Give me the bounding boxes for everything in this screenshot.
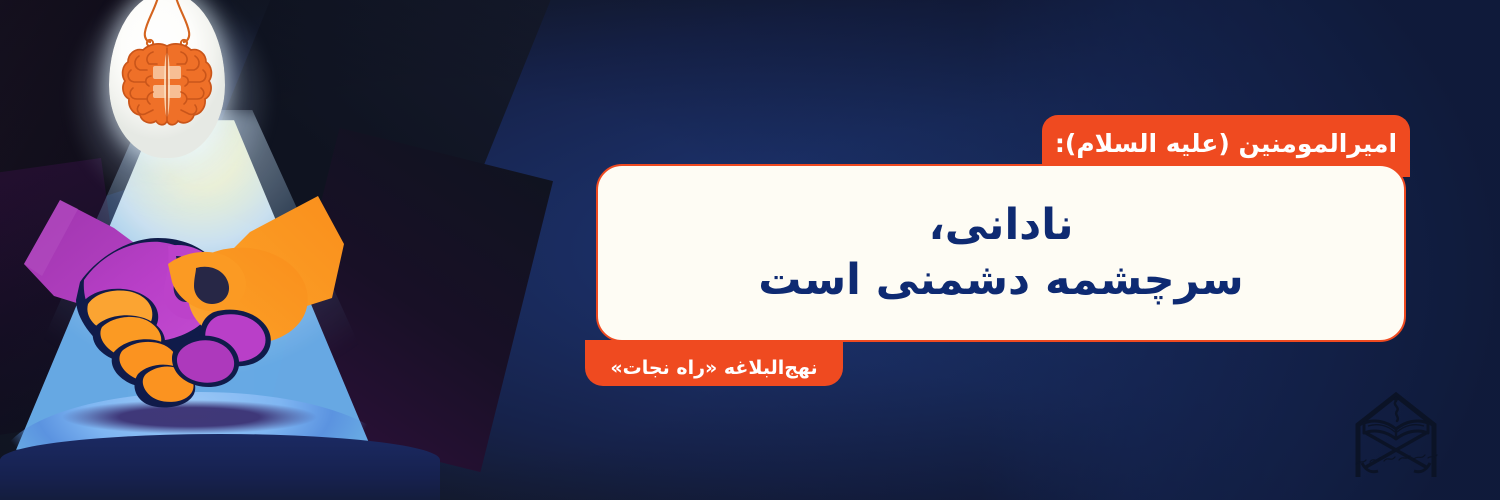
source-badge: نهج‌البلاغه «راه نجات»	[585, 340, 843, 386]
source-text: نهج‌البلاغه «راه نجات»	[610, 357, 817, 379]
attribution-text: امیرالمومنین (علیه السلام):	[1055, 129, 1397, 158]
quote-card: نادانی، سرچشمه دشمنی است	[596, 164, 1406, 342]
quote-line: سرچشمه دشمنی است	[758, 253, 1243, 308]
handshake-icon	[18, 172, 348, 417]
quote-line: نادانی،	[928, 198, 1073, 253]
brain-filament-icon	[109, 0, 225, 158]
quran-arch-logo	[1340, 385, 1452, 485]
quote-banner: امیرالمومنین (علیه السلام): نهج‌البلاغه …	[0, 0, 1500, 500]
ground-dark-band	[0, 434, 440, 500]
lightbulb-brain-icon	[85, 0, 255, 198]
